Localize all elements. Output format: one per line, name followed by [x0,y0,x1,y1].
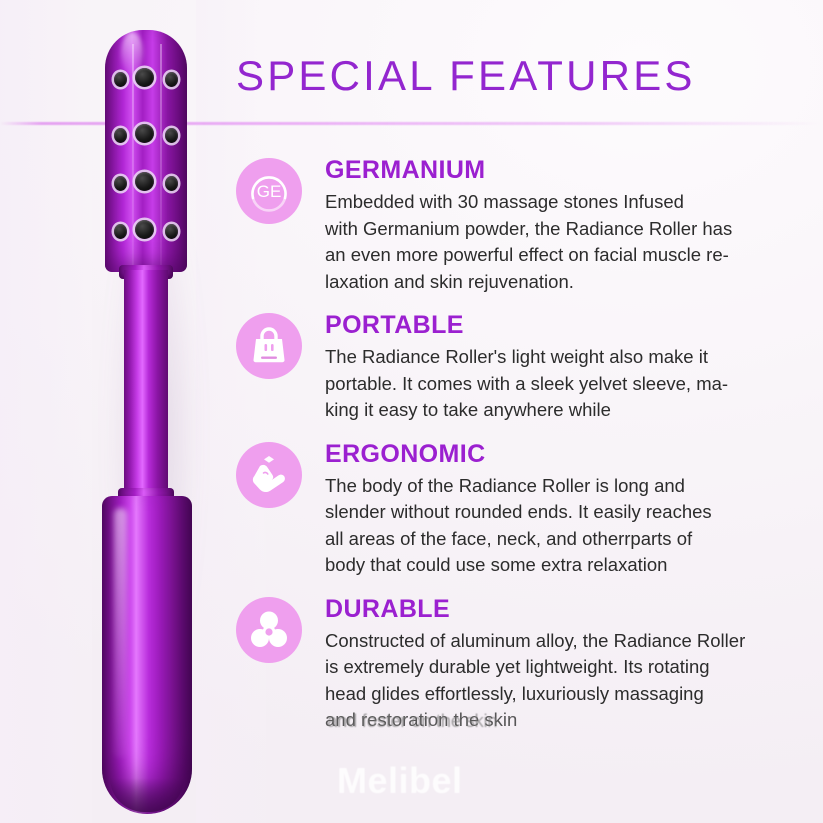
feature-text-line: is extremely durable yet lightweight. It… [325,654,796,681]
roller-shaft [124,270,168,498]
brand-watermark: Melibel [337,760,463,802]
feature-text: Constructed of aluminum alloy, the Radia… [325,628,796,734]
feature-text-line-overlapped: and restoration the skin [325,707,796,734]
hand-face-icon [236,442,302,508]
roller-head [105,30,187,272]
feature-text-line: The Radiance Roller's light weight also … [325,344,796,371]
feature-title: PORTABLE [325,313,796,338]
feature-text: The Radiance Roller's light weight also … [325,344,796,424]
feature-text-line: an even more powerful effect on facial m… [325,242,796,269]
germanium-stone [165,128,178,143]
svg-text:GE: GE [257,182,282,201]
feature-list: GE GERMANIUM Embedded with 30 massage st… [236,158,796,752]
feature-text-line: king it easy to take anywhere while [325,397,796,424]
germanium-stone [114,72,127,87]
feature-text-line: Constructed of aluminum alloy, the Radia… [325,628,796,655]
feature-body: ERGONOMIC The body of the Radiance Rolle… [325,442,796,579]
molecule-icon [236,597,302,663]
germanium-stone [165,176,178,191]
germanium-stone [165,224,178,239]
feature-body: PORTABLE The Radiance Roller's light wei… [325,313,796,424]
feature-item-germanium: GE GERMANIUM Embedded with 30 massage st… [236,158,796,295]
feature-title: DURABLE [325,597,796,622]
roller-handle-cap [110,778,184,812]
germanium-stone [135,68,154,87]
feature-text-line: body that could use some extra relaxatio… [325,552,796,579]
infographic-canvas: SPECIAL FEATURES GE GERMANIUM Embedded w… [0,0,823,823]
germanium-stone [135,124,154,143]
handbag-icon [236,313,302,379]
germanium-stone [114,128,127,143]
feature-text: Embedded with 30 massage stones Infused … [325,189,796,295]
germanium-stone [135,172,154,191]
germanium-stone [165,72,178,87]
feature-text-line: with Germanium powder, the Radiance Roll… [325,216,796,243]
feature-body: DURABLE Constructed of aluminum alloy, t… [325,597,796,734]
feature-text-line: Embedded with 30 massage stones Infused [325,189,796,216]
feature-item-ergonomic: ERGONOMIC The body of the Radiance Rolle… [236,442,796,579]
feature-text-line: portable. It comes with a sleek yelvet s… [325,371,796,398]
feature-text: The body of the Radiance Roller is long … [325,473,796,579]
feature-text-line: The body of the Radiance Roller is long … [325,473,796,500]
germanium-stone [135,220,154,239]
feature-title: GERMANIUM [325,158,796,183]
feature-item-portable: PORTABLE The Radiance Roller's light wei… [236,313,796,424]
roller-head-edge-left [132,44,134,268]
germanium-stone [114,176,127,191]
feature-item-durable: DURABLE Constructed of aluminum alloy, t… [236,597,796,734]
product-image-radiance-roller [88,22,228,812]
roller-head-edge-right [160,44,162,268]
feature-title: ERGONOMIC [325,442,796,467]
feature-text-line: all areas of the face, neck, and otherrp… [325,526,796,553]
feature-text-line: laxation and skin rejuvenation. [325,269,796,296]
ge-circle-icon: GE [236,158,302,224]
feature-text-line: head glides effortlessly, luxuriously ma… [325,681,796,708]
page-title: SPECIAL FEATURES [236,52,696,100]
roller-handle-gloss [114,508,127,758]
feature-body: GERMANIUM Embedded with 30 massage stone… [325,158,796,295]
feature-text-line: slender without rounded ends. It easily … [325,499,796,526]
germanium-stone [114,224,127,239]
